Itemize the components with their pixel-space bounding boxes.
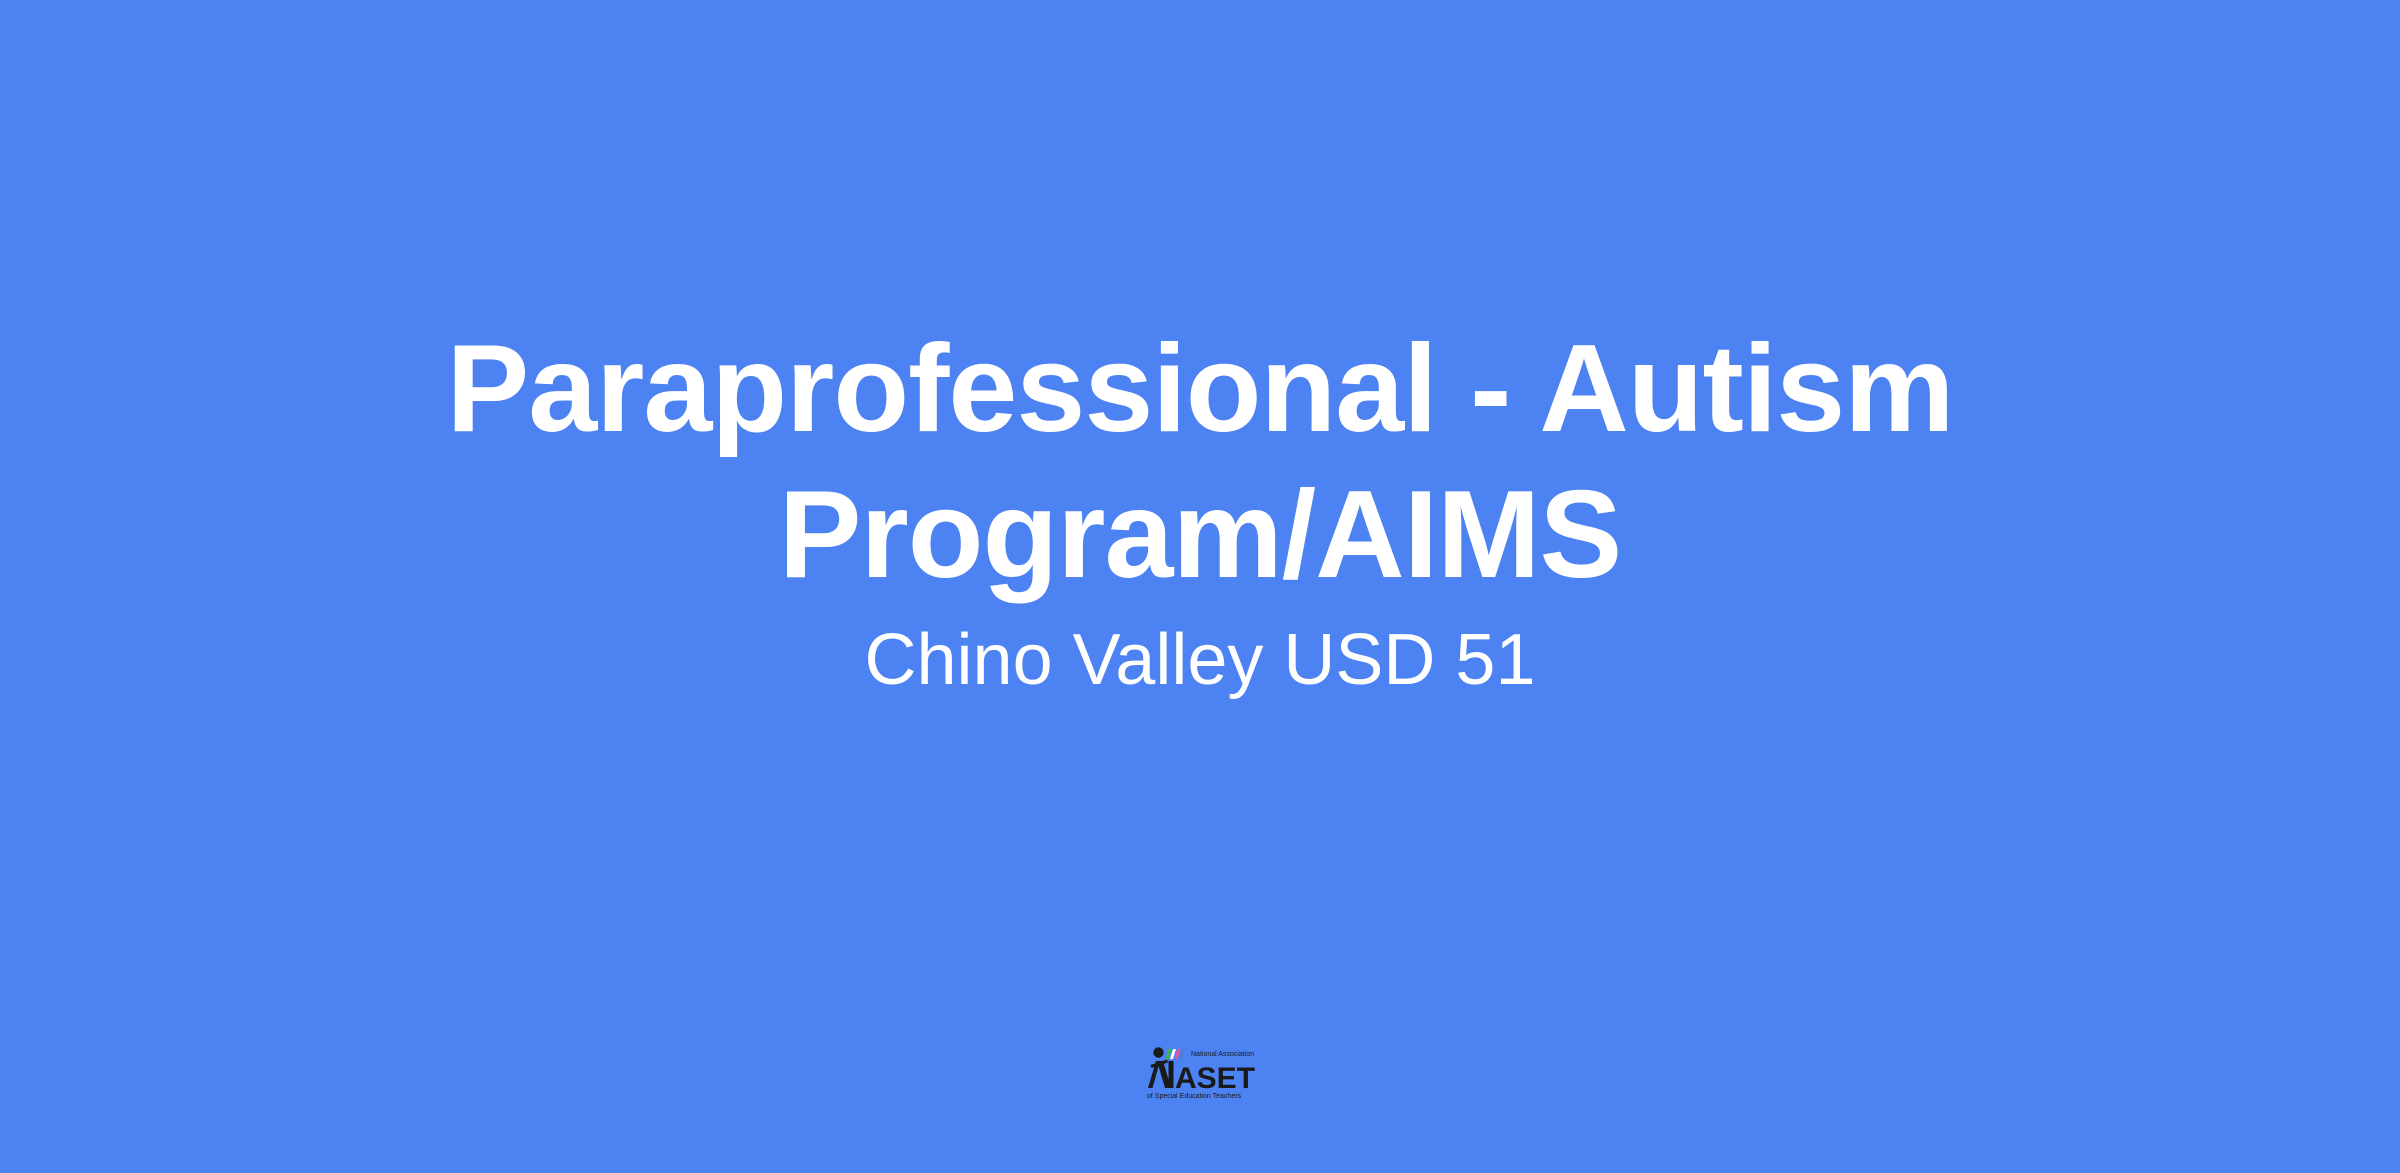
naset-logo: ASET National Association of Special Edu…	[1135, 1040, 1265, 1102]
svg-text:ASET: ASET	[1175, 1062, 1255, 1095]
svg-text:National Association: National Association	[1191, 1051, 1254, 1058]
page-title: Paraprofessional - Autism Program/AIMS	[420, 316, 1980, 609]
presentation-slide: Paraprofessional - Autism Program/AIMS C…	[0, 0, 2400, 1173]
svg-text:of Special Education Teachers: of Special Education Teachers	[1147, 1093, 1242, 1100]
slide-subtitle: Chino Valley USD 51	[350, 617, 2050, 703]
slide-content: Paraprofessional - Autism Program/AIMS C…	[0, 0, 2400, 1173]
naset-logo-mark: ASET National Association of Special Edu…	[1147, 1047, 1255, 1100]
